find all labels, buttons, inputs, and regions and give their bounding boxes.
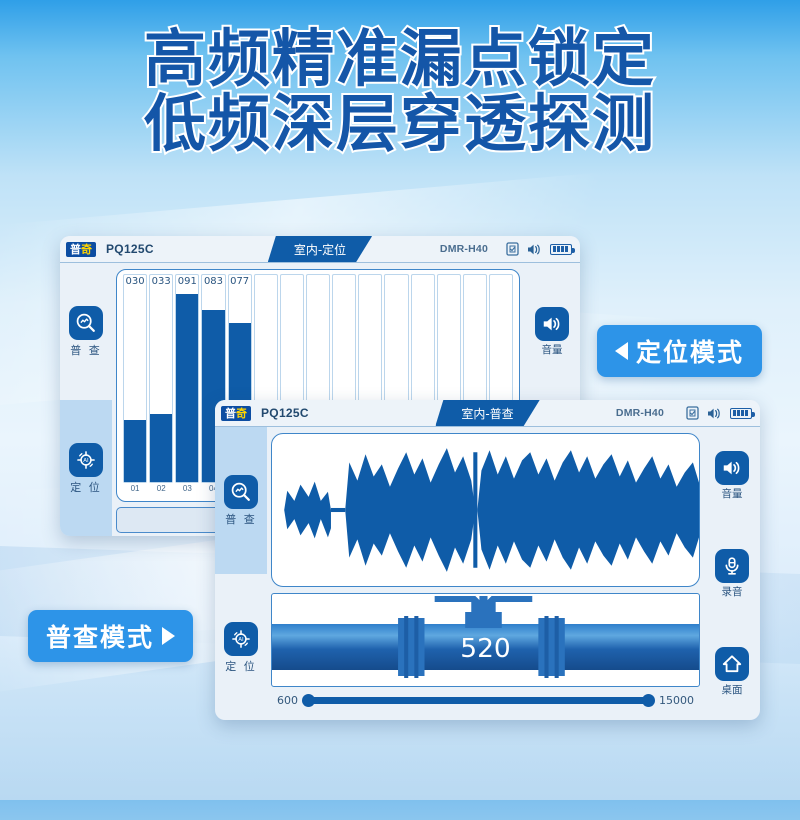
radio-label: DMR-H40 [616,407,664,419]
battery-icon [550,244,572,255]
radio-label: DMR-H40 [440,243,488,255]
survey-search-icon [69,306,103,340]
sidebar-item-survey-label: 普 查 [225,511,257,527]
svg-text:AI: AI [238,637,244,643]
waveform-display[interactable] [271,433,700,587]
device-model-label: PQ125C [261,406,309,420]
volume-button-label: 音量 [722,486,743,501]
survey-left-rail: 普 查 AI 定 位 [215,427,267,720]
sidebar-item-survey[interactable]: 普 查 [60,263,112,400]
volume-icon [715,451,749,485]
speaker-icon [527,243,542,256]
home-button[interactable]: 桌面 [704,623,760,720]
bar-column[interactable]: 030 [123,274,147,483]
brand-logo-char2: 奇 [236,407,247,420]
bar-column[interactable]: 091 [175,274,199,483]
device-model-label: PQ125C [106,242,154,256]
headline-line-1: 高频精准漏点锁定 [144,22,656,95]
mode-title-ribbon: 室内-定位 [268,236,372,262]
pipe-reading-value: 520 [460,634,510,664]
slider-track[interactable] [304,697,653,704]
locate-status-bar: 普奇 PQ125C 室内-定位 DMR-H40 [60,236,580,263]
pipe-display[interactable]: 520 520 [271,593,700,687]
svg-text:AI: AI [83,458,89,464]
bar-x-tick: 01 [123,484,147,500]
callout-locate-mode: 定位模式 [597,325,762,377]
home-icon [715,647,749,681]
slider-knob-max[interactable] [642,694,655,707]
brand-logo-char2: 奇 [81,243,92,256]
brand-logo-char1: 普 [225,407,236,420]
left-triangle-icon [615,342,628,360]
status-icon-group [506,242,572,256]
battery-icon [730,408,752,419]
bar-value-label: 077 [229,276,251,287]
ai-target-icon: AI [224,622,258,656]
survey-search-icon [224,475,258,509]
survey-right-rail: 音量 录音 桌面 [704,427,760,720]
callout-survey-label: 普查模式 [46,618,154,654]
sidebar-item-locate-label: 定 位 [225,658,257,674]
slider-knob-min[interactable] [302,694,315,707]
bar-value-label: 030 [124,276,146,287]
sd-card-icon [506,242,519,256]
headline-line-2: 低频深层穿透探测 [0,91,800,156]
bar-x-tick: 02 [149,484,173,500]
speaker-icon [707,407,722,420]
sidebar-item-locate[interactable]: AI 定 位 [60,400,112,536]
callout-survey-mode: 普查模式 [28,610,193,662]
frequency-slider[interactable]: 600 15000 [271,687,700,713]
brand-logo-char1: 普 [70,243,81,256]
bar-value-label: 033 [150,276,172,287]
record-button-label: 录音 [722,584,743,599]
record-button[interactable]: 录音 [704,525,760,623]
ai-target-icon: AI [69,443,103,477]
bar-fill [124,420,146,482]
bar-value-label: 091 [176,276,198,287]
mode-title-ribbon: 室内-普查 [435,400,539,426]
sidebar-item-survey[interactable]: 普 查 [215,427,267,574]
bar-x-tick: 03 [175,484,199,500]
right-triangle-icon [162,627,175,645]
page-title: 高频精准漏点锁定 低频深层穿透探测 [0,26,800,156]
microphone-icon [715,549,749,583]
bar-column[interactable]: 033 [149,274,173,483]
waveform-graphic [272,434,699,586]
bar-fill [150,414,172,482]
bar-value-label: 083 [202,276,224,287]
slider-min-label: 600 [277,694,298,707]
sidebar-item-locate[interactable]: AI 定 位 [215,574,267,720]
survey-stage: 520 520 600 15000 [267,427,704,720]
sidebar-item-survey-label: 普 查 [70,342,102,358]
volume-icon [535,307,569,341]
home-button-label: 桌面 [722,682,743,697]
slider-max-label: 15000 [659,694,694,707]
callout-locate-label: 定位模式 [636,333,744,369]
pipe-graphic: 520 [272,594,699,686]
volume-button-label: 音量 [542,342,563,357]
brand-logo: 普奇 [221,406,251,421]
survey-status-bar: 普奇 PQ125C 室内-普查 DMR-H40 [215,400,760,427]
status-icon-group [686,406,752,420]
volume-button[interactable]: 音量 [524,263,580,400]
survey-body: 普 查 AI 定 位 [215,427,760,720]
bar-fill [176,294,198,482]
device-screen-survey: 普奇 PQ125C 室内-普查 DMR-H40 普 查 AI 定 位 [215,400,760,720]
sd-card-icon [686,406,699,420]
volume-button[interactable]: 音量 [704,427,760,525]
brand-logo: 普奇 [66,242,96,257]
sidebar-item-locate-label: 定 位 [70,479,102,495]
locate-left-rail: 普 查 AI 定 位 [60,263,112,536]
